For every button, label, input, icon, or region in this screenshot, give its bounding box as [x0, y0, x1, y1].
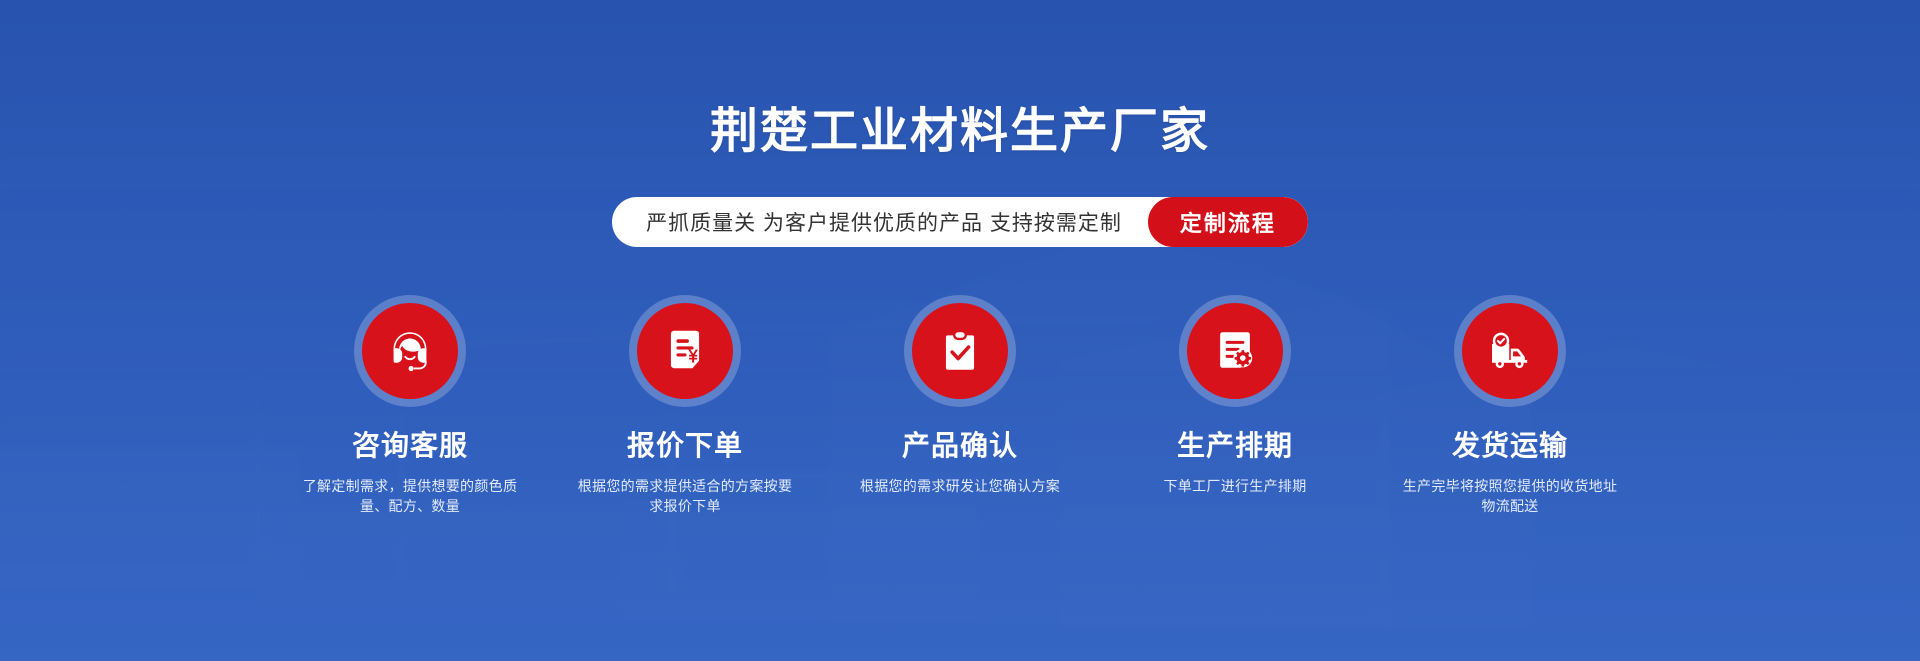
step-title: 生产排期: [1177, 431, 1293, 462]
subtitle-pill-wrapper: 严抓质量关 为客户提供优质的产品 支持按需定制 定制流程: [0, 197, 1920, 247]
banner-headline: 荆楚工业材料生产厂家: [0, 108, 1920, 156]
delivery-truck-check-icon: [1485, 326, 1535, 376]
step-icon-ring: [1454, 295, 1566, 407]
step-item[interactable]: 生产排期 下单工厂进行生产排期: [1115, 295, 1355, 496]
subtitle-pill: 严抓质量关 为客户提供优质的产品 支持按需定制 定制流程: [612, 197, 1308, 247]
custom-process-button[interactable]: 定制流程: [1148, 197, 1308, 247]
promo-banner: 荆楚工业材料生产厂家 严抓质量关 为客户提供优质的产品 支持按需定制 定制流程: [0, 0, 1920, 661]
step-title: 产品确认: [902, 431, 1018, 462]
headset-support-icon: [385, 326, 435, 376]
step-description: 下单工厂进行生产排期: [1164, 476, 1307, 496]
step-description: 根据您的需求提供适合的方案按要求报价下单: [578, 476, 793, 517]
step-icon-ring: [904, 295, 1016, 407]
step-title: 报价下单: [627, 431, 743, 462]
step-icon-ring: [629, 295, 741, 407]
step-icon-ring: [354, 295, 466, 407]
subtitle-text: 严抓质量关 为客户提供优质的产品 支持按需定制: [612, 197, 1148, 247]
step-icon-disc: [1462, 303, 1558, 399]
step-item[interactable]: 咨询客服 了解定制需求，提供想要的颜色质量、配方、数量: [290, 295, 530, 516]
step-icon-disc: [637, 303, 733, 399]
step-description: 根据您的需求研发让您确认方案: [860, 476, 1060, 496]
step-item[interactable]: 发货运输 生产完毕将按照您提供的收货地址物流配送: [1390, 295, 1630, 516]
invoice-yuan-icon: [660, 326, 710, 376]
clipboard-check-icon: [935, 326, 985, 376]
step-title: 咨询客服: [352, 431, 468, 462]
step-icon-disc: [912, 303, 1008, 399]
step-description: 了解定制需求，提供想要的颜色质量、配方、数量: [303, 476, 518, 517]
step-description: 生产完毕将按照您提供的收货地址物流配送: [1403, 476, 1618, 517]
step-item[interactable]: 产品确认 根据您的需求研发让您确认方案: [840, 295, 1080, 496]
step-item[interactable]: 报价下单 根据您的需求提供适合的方案按要求报价下单: [565, 295, 805, 516]
step-icon-disc: [1187, 303, 1283, 399]
document-gear-icon: [1210, 326, 1260, 376]
step-icon-disc: [362, 303, 458, 399]
step-title: 发货运输: [1452, 431, 1568, 462]
step-icon-ring: [1179, 295, 1291, 407]
process-steps: 咨询客服 了解定制需求，提供想要的颜色质量、配方、数量: [290, 295, 1630, 516]
